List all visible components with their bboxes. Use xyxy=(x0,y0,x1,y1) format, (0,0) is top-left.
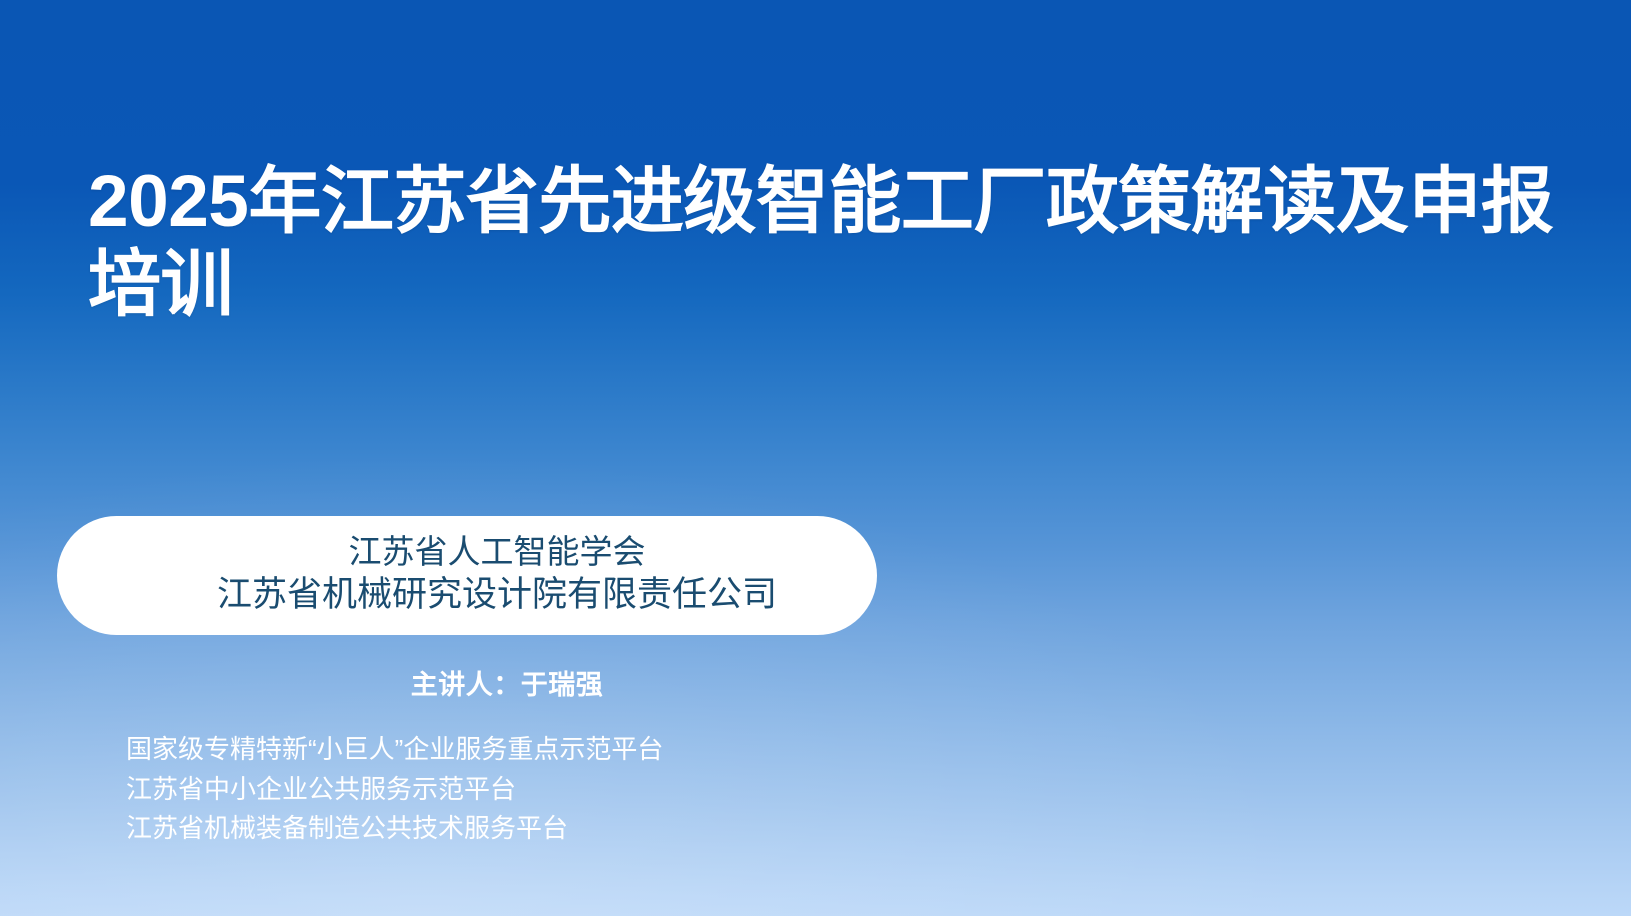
organizer-line-2: 江苏省机械研究设计院有限责任公司 xyxy=(217,573,777,618)
slide-title: 2025年江苏省先进级智能工厂政策解读及申报培训 xyxy=(88,160,1568,326)
platform-line-2: 江苏省中小企业公共服务示范平台 xyxy=(126,770,663,810)
organizer-pill: 江苏省人工智能学会 江苏省机械研究设计院有限责任公司 xyxy=(57,516,877,635)
speaker-label: 主讲人：于瑞强 xyxy=(57,663,957,702)
presentation-slide: 2025年江苏省先进级智能工厂政策解读及申报培训 江苏省人工智能学会 江苏省机械… xyxy=(0,0,1631,916)
platform-line-1: 国家级专精特新“小巨人”企业服务重点示范平台 xyxy=(126,730,663,770)
platform-credentials: 国家级专精特新“小巨人”企业服务重点示范平台 江苏省中小企业公共服务示范平台 江… xyxy=(126,730,663,849)
organizer-line-1: 江苏省人工智能学会 xyxy=(349,531,646,573)
platform-line-3: 江苏省机械装备制造公共技术服务平台 xyxy=(126,809,663,849)
